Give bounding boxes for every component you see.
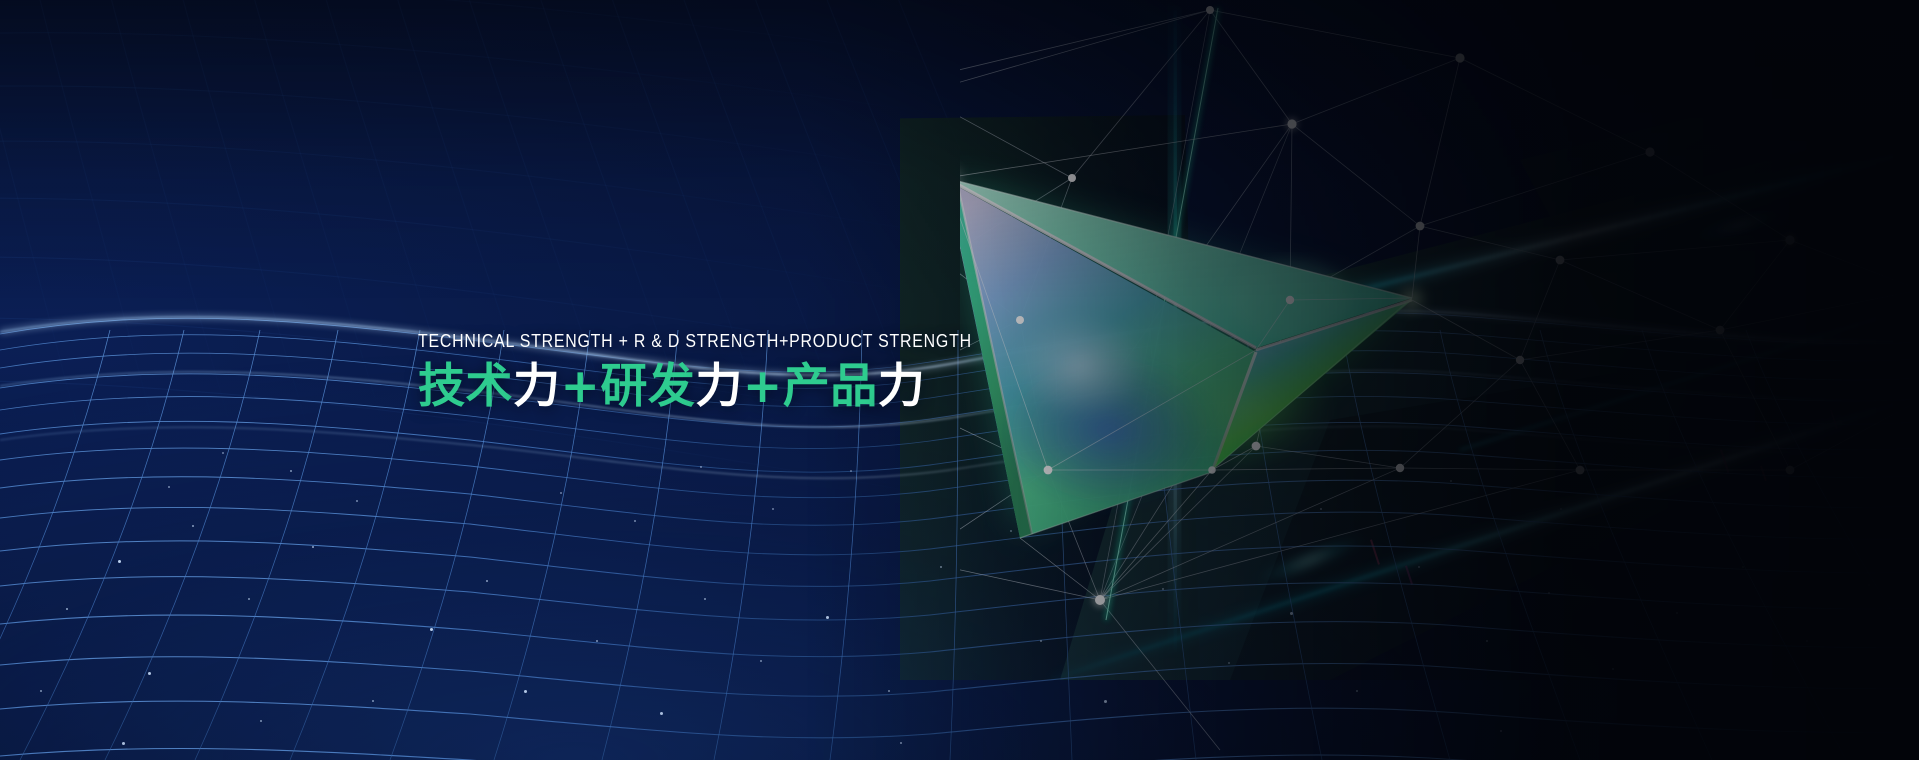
hero-text-block: TECHNICAL STRENGTH + R & D STRENGTH+PROD… — [418, 332, 1058, 411]
headline-segment-4: 力 — [695, 359, 743, 414]
headline-segment-5: + — [743, 359, 783, 414]
headline-segment-6: 产品 — [783, 359, 878, 414]
hero-tagline: TECHNICAL STRENGTH + R & D STRENGTH+PROD… — [418, 332, 968, 351]
headline-segment-3: 研发 — [600, 359, 695, 414]
headline-segment-0: 技术 — [418, 359, 513, 414]
hero-banner: TECHNICAL STRENGTH + R & D STRENGTH+PROD… — [0, 0, 1919, 760]
headline-segment-7: 力 — [878, 359, 926, 414]
headline-segment-1: 力 — [513, 359, 561, 414]
top-vignette — [0, 0, 1919, 300]
headline-segment-2: + — [561, 359, 601, 414]
hero-headline: 技术力+研发力+产品力 — [418, 362, 1058, 412]
